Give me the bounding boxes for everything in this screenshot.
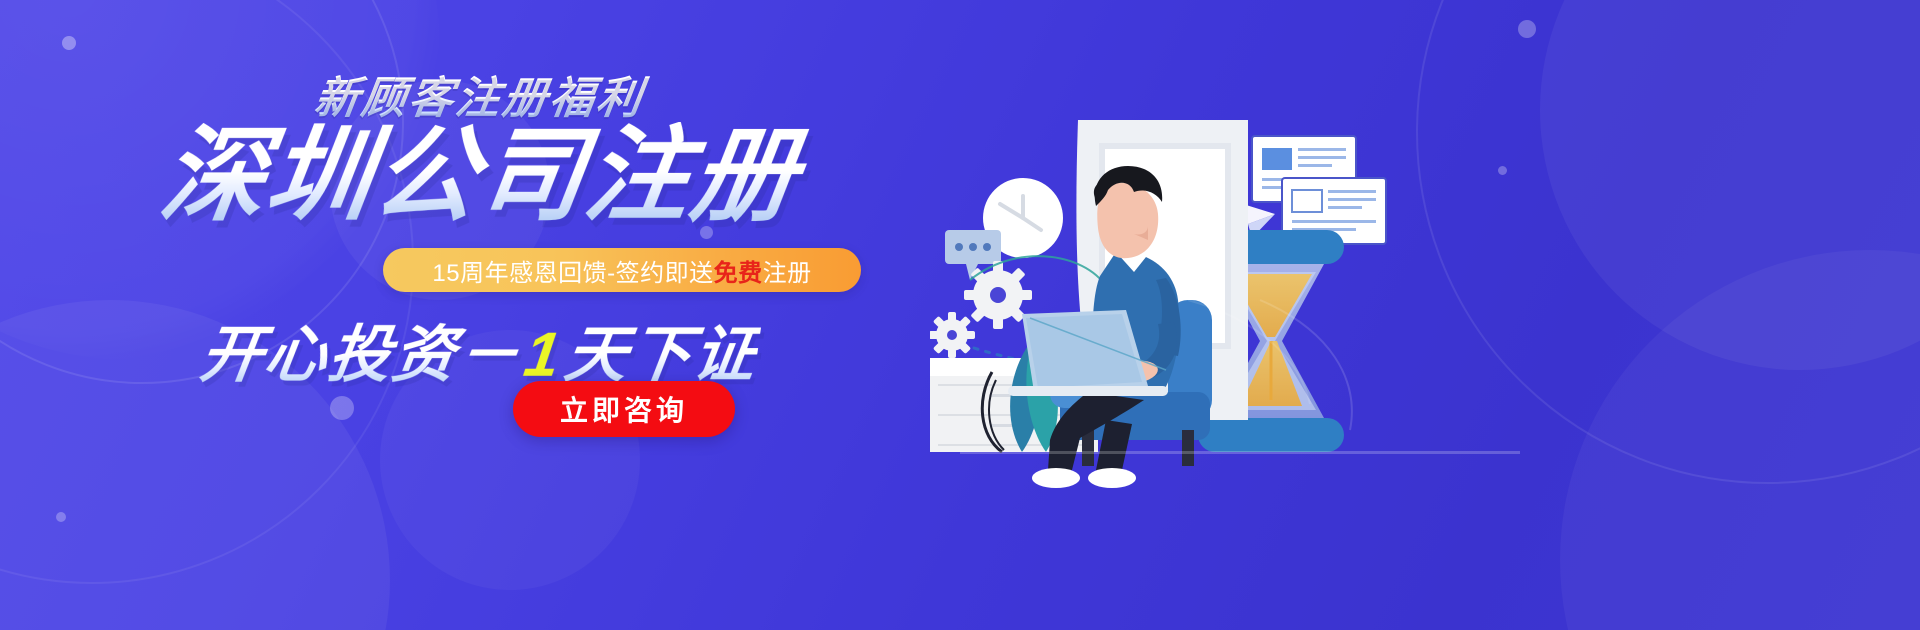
eyebrow-text: 新顾客注册福利	[0, 62, 964, 126]
promo-pill-highlight: 免费	[714, 260, 763, 287]
promo-pill-text: 15周年感恩回馈-签约即送免费注册	[432, 253, 811, 288]
illustration-scene	[930, 0, 1920, 630]
tagline-after: 天下证	[560, 321, 762, 390]
copy-block: 新顾客注册福利 深圳公司注册 15周年感恩回馈-签约即送免费注册 开心投资－1天…	[0, 0, 960, 630]
gear-large-icon	[964, 261, 1032, 329]
promo-pill-suffix: 注册	[763, 260, 812, 287]
promo-banner: 新顾客注册福利 深圳公司注册 15周年感恩回馈-签约即送免费注册 开心投资－1天…	[0, 0, 1920, 630]
tagline: 开心投资－1天下证	[0, 304, 966, 394]
page-title: 深圳公司注册	[0, 122, 968, 230]
promo-pill-prefix: 15周年感恩回馈-签约即送	[432, 260, 713, 287]
tagline-before: 开心投资－	[196, 321, 526, 390]
consult-now-button[interactable]: 立即咨询	[513, 381, 735, 437]
promo-pill: 15周年感恩回馈-签约即送免费注册	[383, 248, 861, 292]
ground-line	[960, 451, 1520, 454]
